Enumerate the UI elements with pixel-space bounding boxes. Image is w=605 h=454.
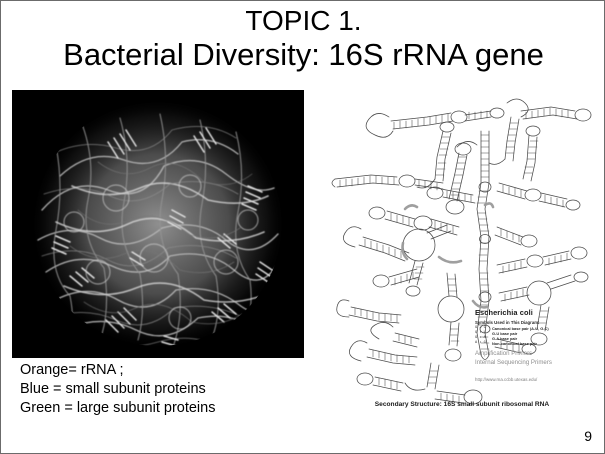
legend-line-rrna: Orange= rRNA ; — [20, 361, 310, 380]
amplification-primers-label: Amplification Primers — [475, 350, 595, 359]
symbol-row-noncanonical: A • G Non-canonical base pair — [475, 341, 595, 346]
title-line-subject: Bacterial Diversity: 16S rRNA gene — [1, 37, 605, 73]
color-legend: Orange= rRNA ; Blue = small subunit prot… — [20, 361, 310, 418]
legend-line-large-subunit: Green = large subunit proteins — [20, 399, 310, 418]
internal-sequencing-primers-label: Internal Sequencing Primers — [475, 359, 595, 368]
legend-line-small-subunit: Blue = small subunit proteins — [20, 380, 310, 399]
ribosome-structure-graphic — [12, 90, 304, 358]
title-line-topic: TOPIC 1. — [1, 5, 605, 37]
primers-block: Amplification Primers Internal Sequencin… — [475, 350, 595, 367]
source-url: http://www.rna.ccbb.utexas.edu/ — [475, 377, 595, 383]
rrna-diagram-caption: Secondary Structure: 16S small subunit r… — [331, 401, 593, 408]
symbol-key-noncanonical: A • G — [475, 341, 492, 346]
organism-name: Escherichia coli — [475, 308, 595, 317]
slide-canvas: TOPIC 1. Bacterial Diversity: 16S rRNA g… — [0, 0, 605, 454]
page-title: TOPIC 1. Bacterial Diversity: 16S rRNA g… — [1, 5, 605, 73]
symbol-desc-noncanonical: Non-canonical base pair — [492, 341, 537, 346]
rrna-diagram-legend: Escherichia coli Symbols Used in This Di… — [475, 308, 595, 383]
page-number: 9 — [584, 428, 592, 444]
ribosome-structure-image — [12, 90, 304, 358]
